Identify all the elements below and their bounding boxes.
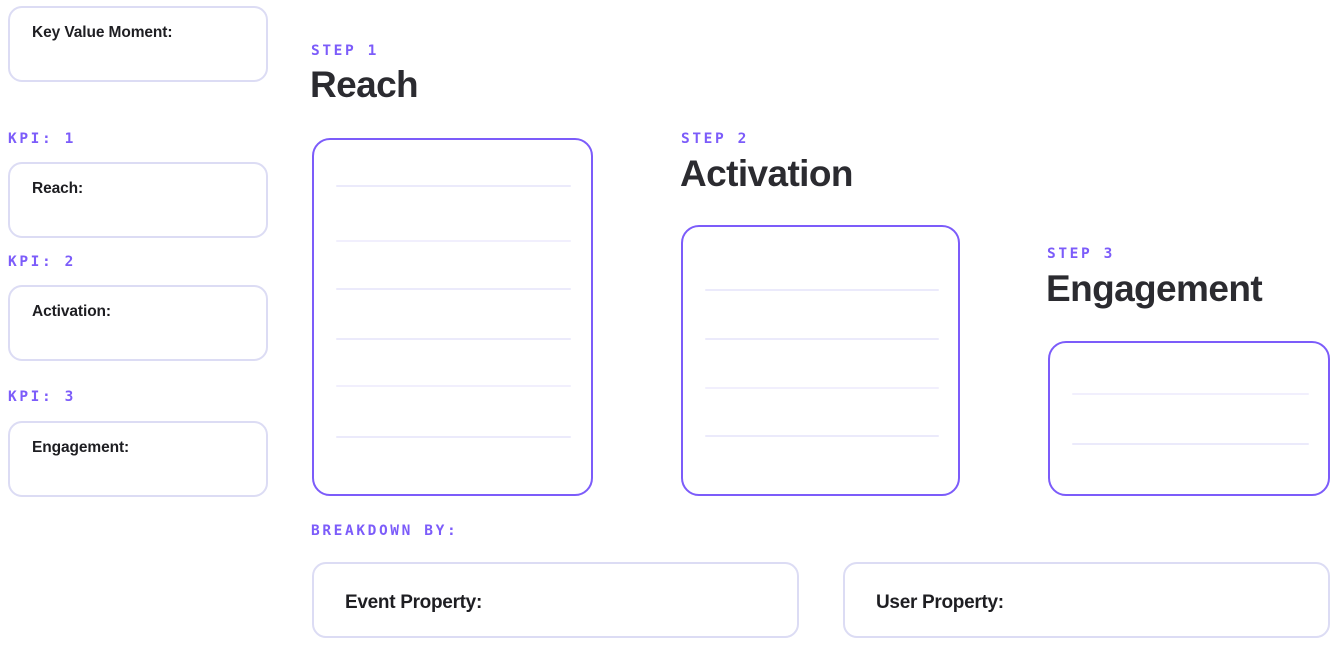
kpi-3-box[interactable]: Engagement: [8, 421, 268, 497]
rule-line [336, 436, 571, 438]
breakdown-tag: BREAKDOWN BY: [311, 524, 458, 539]
key-value-moment-label: Key Value Moment: [32, 24, 172, 42]
rule-line [336, 288, 571, 290]
user-property-box[interactable]: User Property: [843, 562, 1330, 638]
rule-line [336, 240, 571, 242]
event-property-label: Event Property: [345, 592, 482, 614]
step-2-tag: STEP 2 [681, 132, 749, 147]
step-1-tag: STEP 1 [311, 44, 379, 59]
step-2-card[interactable] [681, 225, 960, 496]
rule-line [336, 338, 571, 340]
key-value-moment-box[interactable]: Key Value Moment: [8, 6, 268, 82]
kpi-2-tag: KPI: 2 [8, 255, 76, 270]
step-2-title: Activation [680, 155, 853, 194]
kpi-1-tag: KPI: 1 [8, 132, 76, 147]
kpi-2-box[interactable]: Activation: [8, 285, 268, 361]
step-1-card[interactable] [312, 138, 593, 496]
rule-line [705, 387, 939, 389]
kpi-3-label: Engagement: [32, 439, 129, 457]
step-3-card[interactable] [1048, 341, 1330, 496]
rule-line [705, 338, 939, 340]
user-property-label: User Property: [876, 592, 1004, 614]
rule-line [705, 289, 939, 291]
kpi-1-label: Reach: [32, 180, 83, 198]
event-property-box[interactable]: Event Property: [312, 562, 799, 638]
rule-line [1072, 443, 1309, 445]
step-3-tag: STEP 3 [1047, 247, 1115, 262]
rule-line [336, 385, 571, 387]
rule-line [705, 435, 939, 437]
worksheet-canvas: Key Value Moment: KPI: 1 Reach: KPI: 2 A… [0, 0, 1337, 646]
kpi-3-tag: KPI: 3 [8, 390, 76, 405]
rule-line [336, 185, 571, 187]
kpi-2-label: Activation: [32, 303, 111, 321]
kpi-1-box[interactable]: Reach: [8, 162, 268, 238]
rule-line [1072, 393, 1309, 395]
step-1-title: Reach [310, 66, 418, 105]
step-3-title: Engagement [1046, 270, 1262, 309]
